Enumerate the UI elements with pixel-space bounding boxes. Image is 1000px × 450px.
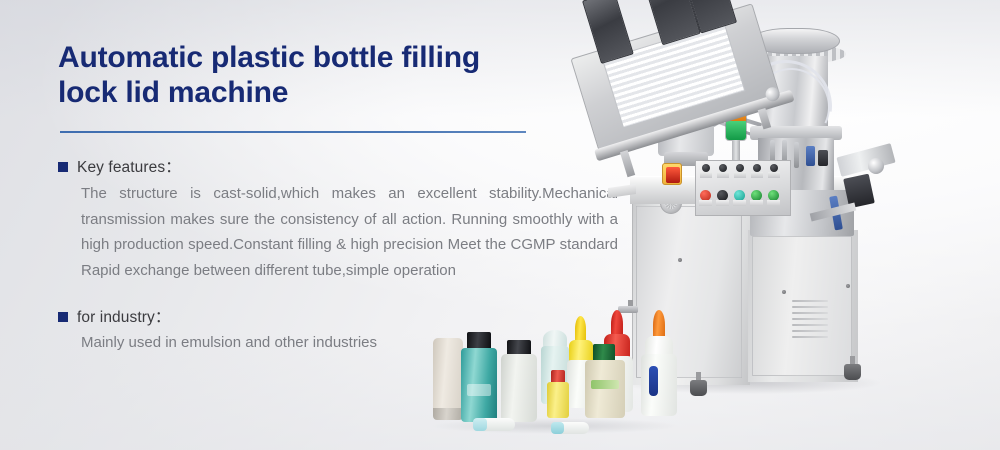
push-button-black[interactable]: [716, 190, 729, 206]
bottle-label: [467, 384, 491, 396]
key-features-heading: Key features：: [77, 155, 181, 177]
selector-knob[interactable]: [751, 164, 763, 179]
bottle-label: [591, 380, 619, 389]
square-bullet-icon: [58, 162, 68, 172]
orange-tip-bottle: [641, 354, 677, 416]
for-industry-heading: for industry：: [77, 305, 170, 327]
magazine-leg: [758, 108, 771, 129]
beige-cosmetic-tube: [433, 338, 463, 418]
screw-icon: [846, 284, 850, 288]
blue-stripe-squeeze-bottle: [649, 366, 658, 396]
emergency-stop-switch[interactable]: [662, 163, 682, 185]
key-features-heading-row: Key features：: [58, 155, 618, 177]
magazine-leg: [620, 150, 635, 177]
selector-knob[interactable]: [734, 164, 746, 179]
key-features-block: Key features： The structure is cast-soli…: [58, 155, 618, 283]
tube-cap: [433, 408, 463, 420]
bottle-samples-group: [415, 300, 685, 440]
yellow-label-small-bottle: [547, 382, 569, 418]
selector-knob[interactable]: [700, 164, 712, 179]
selector-knob[interactable]: [717, 164, 729, 179]
leveling-foot: [690, 380, 707, 396]
page-title: Automatic plastic bottle filling lock li…: [58, 40, 618, 110]
leveling-foot: [844, 364, 861, 380]
title-divider: [60, 131, 526, 133]
frosted-white-bottle: [501, 354, 537, 422]
drive-pulley: [868, 158, 884, 174]
small-tube-cap: [473, 418, 487, 431]
sensor-block: [818, 150, 828, 166]
product-photo: [600, 0, 1000, 450]
key-features-body: The structure is cast-solid,which makes …: [81, 181, 618, 283]
push-button-row: [699, 190, 780, 206]
headline-block: Automatic plastic bottle filling lock li…: [58, 40, 618, 110]
transfer-rail: [836, 143, 895, 177]
yellow-tip: [575, 316, 586, 342]
ventilation-louver: [792, 300, 828, 344]
screw-icon: [782, 290, 786, 294]
title-line-1: Automatic plastic bottle filling: [58, 41, 480, 74]
selector-knob-row: [700, 164, 780, 179]
filling-nozzle: [794, 142, 799, 168]
selector-knob[interactable]: [768, 164, 780, 179]
mini-tube-cap: [551, 422, 564, 434]
push-button-red[interactable]: [699, 190, 712, 206]
square-bullet-icon: [58, 312, 68, 322]
pneumatic-valve: [806, 146, 815, 166]
push-button-green[interactable]: [750, 190, 763, 206]
screw-icon: [678, 258, 682, 262]
push-button-teal[interactable]: [733, 190, 746, 206]
push-button-green[interactable]: [767, 190, 780, 206]
title-line-2: lock lid machine: [58, 76, 288, 109]
green-cap-lotion-bottle: [585, 360, 625, 418]
